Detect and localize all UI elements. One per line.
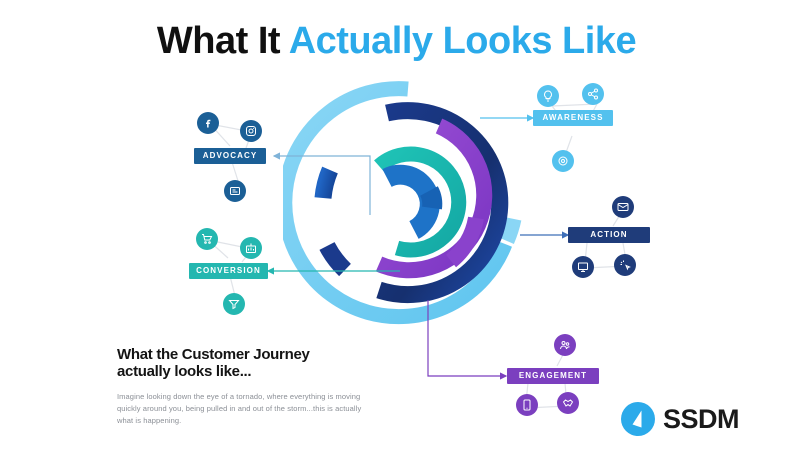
- presentation-icon[interactable]: [572, 256, 594, 278]
- mobile-phone-icon[interactable]: [516, 394, 538, 416]
- email-icon[interactable]: [612, 196, 634, 218]
- logo-wordmark: SSDM: [663, 404, 739, 435]
- page-title: What It Actually Looks Like: [0, 20, 793, 63]
- central-vortex-graphic: [283, 78, 533, 328]
- handshake-icon[interactable]: [557, 392, 579, 414]
- stage-label-engagement[interactable]: ENGAGEMENT: [507, 368, 599, 384]
- title-part-dark: What It: [157, 20, 289, 62]
- title-part-accent: Actually Looks Like: [289, 20, 636, 62]
- bar-chart-icon[interactable]: [240, 237, 262, 259]
- share-network-icon[interactable]: [582, 83, 604, 105]
- lede-body: Imagine looking down the eye of a tornad…: [117, 391, 367, 427]
- shopping-cart-icon[interactable]: [196, 228, 218, 250]
- slide-canvas: What It Actually Looks Like: [0, 0, 793, 452]
- lede-heading-line2: actually looks like...: [117, 363, 251, 380]
- newsletter-icon[interactable]: [224, 180, 246, 202]
- lightbulb-icon[interactable]: [537, 85, 559, 107]
- stage-label-conversion[interactable]: CONVERSION: [189, 263, 268, 279]
- funnel-icon[interactable]: [223, 293, 245, 315]
- instagram-icon[interactable]: [240, 120, 262, 142]
- lede-heading: What the Customer Journey actually looks…: [117, 346, 367, 380]
- stage-label-action[interactable]: ACTION: [568, 227, 650, 243]
- target-idea-icon[interactable]: [552, 150, 574, 172]
- lede-block: What the Customer Journey actually looks…: [117, 346, 367, 427]
- click-cursor-icon[interactable]: [614, 254, 636, 276]
- stage-label-advocacy[interactable]: ADVOCACY: [194, 148, 266, 164]
- stage-label-awareness[interactable]: AWARENESS: [533, 110, 613, 126]
- users-group-icon[interactable]: [554, 334, 576, 356]
- sail-circle-icon: [621, 402, 655, 436]
- facebook-icon[interactable]: [197, 112, 219, 134]
- ssdm-logo: SSDM: [621, 402, 739, 436]
- lede-heading-line1: What the Customer Journey: [117, 346, 310, 363]
